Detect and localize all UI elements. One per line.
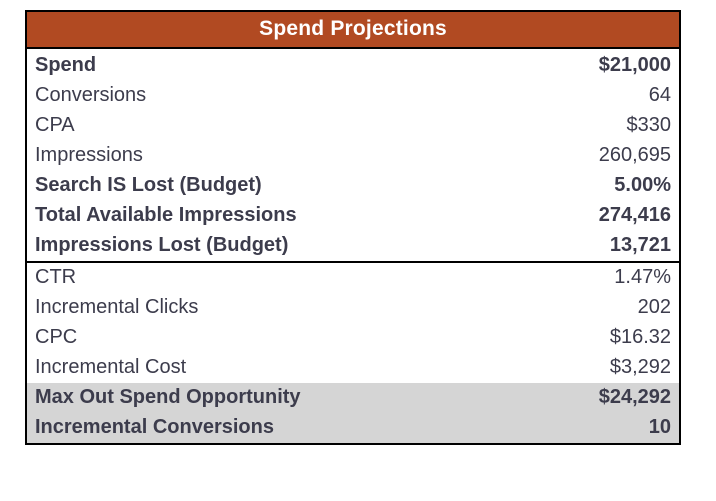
row-value: $330 [353,111,679,141]
row-value: 13,721 [353,231,679,262]
row-label: Incremental Clicks [27,293,353,323]
table-body: Spend$21,000Conversions64CPA$330Impressi… [27,48,679,443]
row-value: $21,000 [353,48,679,81]
table-row: Incremental Clicks202 [27,293,679,323]
table-row: Impressions260,695 [27,141,679,171]
row-value: 1.47% [353,262,679,293]
row-value: 202 [353,293,679,323]
table-row: Max Out Spend Opportunity$24,292 [27,383,679,413]
table-header: Spend Projections [27,12,679,48]
row-label: Incremental Conversions [27,413,353,443]
table-row: CPA$330 [27,111,679,141]
row-label: Conversions [27,81,353,111]
row-value: 5.00% [353,171,679,201]
spend-projections-table-container: Spend Projections Spend$21,000Conversion… [25,10,681,445]
row-label: CTR [27,262,353,293]
row-label: Max Out Spend Opportunity [27,383,353,413]
table-row: Incremental Cost$3,292 [27,353,679,383]
table-row: Incremental Conversions10 [27,413,679,443]
row-value: $24,292 [353,383,679,413]
row-label: Search IS Lost (Budget) [27,171,353,201]
spend-projections-table: Spend Projections Spend$21,000Conversion… [27,12,679,443]
table-row: Search IS Lost (Budget)5.00% [27,171,679,201]
row-label: CPA [27,111,353,141]
row-value: 274,416 [353,201,679,231]
row-value: 64 [353,81,679,111]
row-value: $16.32 [353,323,679,353]
row-label: Incremental Cost [27,353,353,383]
table-row: CPC$16.32 [27,323,679,353]
table-title: Spend Projections [27,12,679,48]
row-value: 10 [353,413,679,443]
table-row: Conversions64 [27,81,679,111]
table-title-row: Spend Projections [27,12,679,48]
table-row: CTR1.47% [27,262,679,293]
row-label: Total Available Impressions [27,201,353,231]
table-row: Spend$21,000 [27,48,679,81]
table-row: Impressions Lost (Budget)13,721 [27,231,679,262]
table-row: Total Available Impressions274,416 [27,201,679,231]
row-value: 260,695 [353,141,679,171]
row-value: $3,292 [353,353,679,383]
row-label: CPC [27,323,353,353]
row-label: Spend [27,48,353,81]
row-label: Impressions [27,141,353,171]
row-label: Impressions Lost (Budget) [27,231,353,262]
